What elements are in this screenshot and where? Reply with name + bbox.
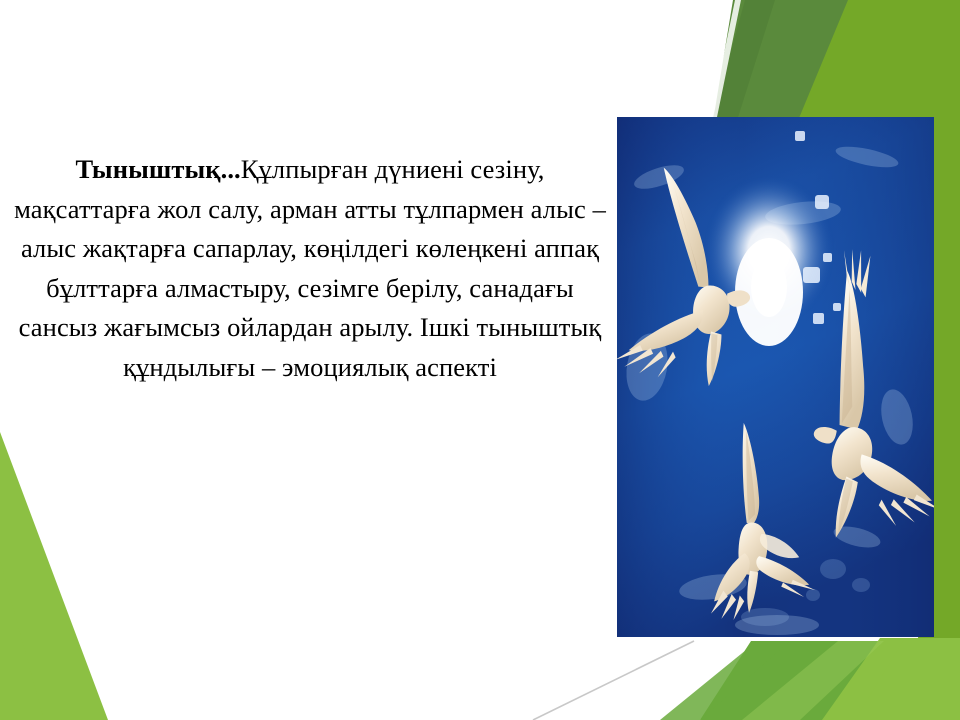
lead-phrase: Тыныштық... bbox=[75, 154, 240, 184]
bottom-right-mid-green-wedge bbox=[700, 641, 960, 720]
sun-hotspot bbox=[751, 257, 787, 317]
slide-body-text: Тыныштық...Құлпырған дүниені сезіну, мақ… bbox=[14, 150, 606, 387]
bottom-right-bright-green-wedge bbox=[822, 638, 960, 720]
bottom-left-green-wedge-inner bbox=[0, 432, 108, 720]
slide-canvas: Тыныштық...Құлпырған дүниені сезіну, мақ… bbox=[0, 0, 960, 720]
bottom-right-mid-green-shade bbox=[660, 641, 790, 720]
bottom-right-bright-green-wedge-2 bbox=[855, 638, 960, 720]
bottom-right-light-overlay bbox=[742, 641, 884, 720]
body-phrase: Құлпырған дүниені сезіну, мақсаттарға жо… bbox=[14, 154, 606, 382]
doves-sky-illustration bbox=[617, 117, 934, 637]
doves-sky-picture bbox=[617, 117, 934, 637]
diagonal-hairline bbox=[533, 641, 694, 720]
bottom-left-green-wedge bbox=[0, 432, 106, 720]
